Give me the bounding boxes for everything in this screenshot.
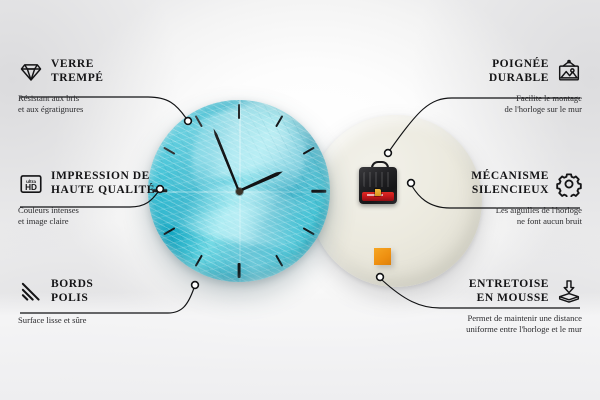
hanging-frame-icon [556,59,582,85]
feature-description: Les aiguilles de l'horlogene font aucun … [471,205,582,226]
feature-heading: VERRETREMPÉ [18,58,104,85]
feature-heading: POIGNÉEDURABLE [489,58,582,85]
clock-mechanism [359,167,397,204]
leader-dot-bords-polis [192,282,199,289]
feature-description: Surface lisse et sûre [18,315,93,326]
feature-description: Permet de maintenir une distanceuniforme… [466,313,582,334]
feature-impression-haute-qualite: ultra HD IMPRESSION DEHAUTE QUALITÉ Coul… [18,170,155,226]
battery-terminal [375,189,381,196]
glass-edge-polish [148,100,330,282]
feature-entretoise-en-mousse: ENTRETOISEEN MOUSSE Permet de maintenir … [466,278,582,334]
mechanism-label-detail [363,172,393,187]
arrow-on-foam-icon [556,279,582,305]
mechanism-body [359,167,397,204]
feature-title: ENTRETOISEEN MOUSSE [469,278,549,305]
clock-front-face [148,100,330,282]
feature-heading: ultra HD IMPRESSION DEHAUTE QUALITÉ [18,170,155,197]
feature-description: Facilite le montagede l'horloge sur le m… [489,93,582,114]
feature-description: Couleurs intenseset image claire [18,205,155,226]
feature-bords-polis: BORDSPOLIS Surface lisse et sûre [18,278,93,326]
feature-verre-trempe: VERRETREMPÉ Résistant aux briset aux égr… [18,58,104,114]
feature-title: BORDSPOLIS [51,278,93,305]
feature-heading: BORDSPOLIS [18,278,93,305]
feature-title: VERRETREMPÉ [51,58,104,85]
feature-title: MÉCANISMESILENCIEUX [471,170,549,197]
feature-poignee-durable: POIGNÉEDURABLE Facilite le montagede l'h… [489,58,582,114]
feature-title: POIGNÉEDURABLE [489,58,549,85]
svg-text:HD: HD [25,182,37,191]
infographic-canvas: VERRETREMPÉ Résistant aux briset aux égr… [0,0,600,400]
foam-spacer [374,248,391,265]
diagonal-stripes-icon [18,279,44,305]
feature-description: Résistant aux briset aux égratignures [18,93,104,114]
battery [362,192,394,201]
clock-back-side [310,115,482,287]
gear-icon [556,171,582,197]
feature-heading: ENTRETOISEEN MOUSSE [466,278,582,305]
diamond-icon [18,59,44,85]
feature-mecanisme-silencieux: MÉCANISMESILENCIEUX Les aiguilles de l'h… [471,170,582,226]
feature-heading: MÉCANISMESILENCIEUX [471,170,582,197]
feature-title: IMPRESSION DEHAUTE QUALITÉ [51,170,155,197]
ultra-hd-icon: ultra HD [18,171,44,197]
